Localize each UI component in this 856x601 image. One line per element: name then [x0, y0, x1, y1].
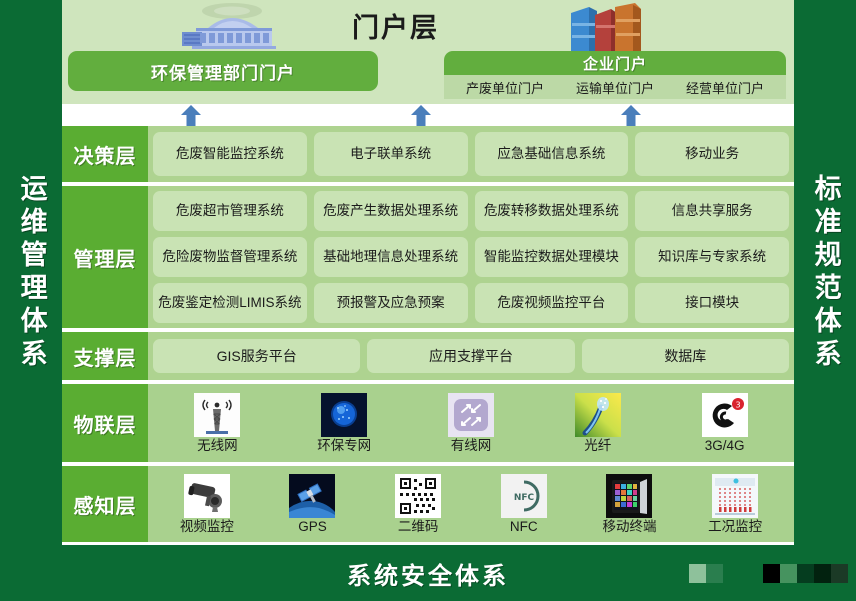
- radio-tower-icon: [194, 393, 240, 437]
- sense-item-label: 视频监控: [180, 520, 234, 535]
- sub-portal-item[interactable]: 运输单位门户: [576, 78, 654, 97]
- system-card[interactable]: 信息共享服务: [635, 191, 789, 231]
- iot-item-label: 有线网: [451, 439, 492, 454]
- satellite-icon: [289, 474, 335, 518]
- color-swatch: [814, 564, 831, 583]
- bottom-banner: 系统安全体系: [0, 545, 856, 601]
- nfc-icon: NFC: [501, 474, 547, 518]
- waste-barrels-icon: [567, 1, 649, 53]
- color-swatch: [831, 564, 848, 583]
- iot-item-wireless[interactable]: 无线网: [162, 393, 272, 454]
- layer-iot: 物联层: [62, 384, 794, 462]
- sense-item-mobile[interactable]: 移动终端: [581, 474, 677, 535]
- enterprise-portal-box[interactable]: 企业门户 产废单位门户 运输单位门户 经营单位门户: [444, 51, 786, 99]
- iot-item-fiber[interactable]: 光纤: [543, 393, 653, 454]
- system-card[interactable]: 危废智能监控系统: [153, 132, 307, 176]
- gov-portal-box[interactable]: 环保管理部门门户: [68, 51, 378, 91]
- architecture-diagram: 运维管理体系 标准规范体系: [0, 0, 856, 601]
- enterprise-sub-portals: 产废单位门户 运输单位门户 经营单位门户: [444, 75, 786, 99]
- layer-row: GIS服务平台 应用支撑平台 数据库: [153, 339, 789, 373]
- color-swatch: [780, 564, 797, 583]
- left-side-bar-label: 运维管理体系: [16, 174, 45, 372]
- sense-item-label: GPS: [298, 520, 327, 535]
- system-card[interactable]: 危废产生数据处理系统: [314, 191, 468, 231]
- system-card[interactable]: 接口模块: [635, 283, 789, 323]
- china-mobile-3g-icon: 3: [702, 393, 748, 437]
- bottom-banner-label: 系统安全体系: [347, 556, 509, 591]
- router-icon: [448, 393, 494, 437]
- layer-decision: 决策层 危废智能监控系统 电子联单系统 应急基础信息系统 移动业务: [62, 126, 794, 182]
- system-card[interactable]: 数据库: [582, 339, 789, 373]
- system-card[interactable]: 危废鉴定检测LIMIS系统: [153, 283, 307, 323]
- qr-code-icon: [395, 474, 441, 518]
- system-card[interactable]: 应急基础信息系统: [475, 132, 629, 176]
- system-card[interactable]: 基础地理信息处理系统: [314, 237, 468, 277]
- sense-item-nfc[interactable]: NFC NFC: [476, 474, 572, 535]
- sub-portal-item[interactable]: 经营单位门户: [686, 78, 764, 97]
- iot-item-label: 环保专网: [317, 439, 371, 454]
- svg-text:NFC: NFC: [514, 493, 535, 503]
- right-side-bar: 标准规范体系: [794, 0, 856, 545]
- system-card[interactable]: 移动业务: [635, 132, 789, 176]
- layer-support-body: GIS服务平台 应用支撑平台 数据库: [148, 332, 794, 380]
- upward-arrow-icon: [620, 105, 642, 126]
- system-card[interactable]: 危废超市管理系统: [153, 191, 307, 231]
- iot-item-3g4g[interactable]: 3 3G/4G: [670, 393, 780, 454]
- system-card[interactable]: 电子联单系统: [314, 132, 468, 176]
- system-card[interactable]: 知识库与专家系统: [635, 237, 789, 277]
- layer-management: 管理层 危废超市管理系统 危废产生数据处理系统 危废转移数据处理系统 信息共享服…: [62, 186, 794, 328]
- fiber-optic-icon: [575, 393, 621, 437]
- layer-row: 危废超市管理系统 危废产生数据处理系统 危废转移数据处理系统 信息共享服务: [153, 191, 789, 231]
- sub-portal-item[interactable]: 产废单位门户: [466, 78, 544, 97]
- color-swatch: [706, 564, 723, 583]
- sense-item-gps[interactable]: GPS: [264, 474, 360, 535]
- gov-portal-label: 环保管理部门门户: [151, 59, 295, 84]
- sense-item-label: 移动终端: [602, 520, 656, 535]
- sense-item-qrcode[interactable]: 二维码: [370, 474, 466, 535]
- layer-management-body: 危废超市管理系统 危废产生数据处理系统 危废转移数据处理系统 信息共享服务 危险…: [148, 186, 794, 328]
- layer-support: 支撑层 GIS服务平台 应用支撑平台 数据库: [62, 332, 794, 380]
- layer-management-label: 管理层: [62, 186, 148, 328]
- layer-iot-label: 物联层: [62, 384, 148, 462]
- sense-item-process[interactable]: 工况监控: [687, 474, 783, 535]
- layer-sensing: 感知层 视频监控: [62, 466, 794, 542]
- color-swatch: [797, 564, 814, 583]
- process-monitor-icon: [712, 474, 758, 518]
- right-side-bar-label: 标准规范体系: [810, 174, 839, 372]
- portal-layer-title: 门户层: [352, 6, 439, 45]
- iot-item-wired[interactable]: 有线网: [416, 393, 526, 454]
- cctv-camera-icon: [184, 474, 230, 518]
- network-globe-icon: [321, 393, 367, 437]
- color-swatches: [689, 564, 848, 583]
- left-side-bar: 运维管理体系: [0, 0, 62, 545]
- layer-decision-body: 危废智能监控系统 电子联单系统 应急基础信息系统 移动业务: [148, 126, 794, 182]
- system-card[interactable]: 危废转移数据处理系统: [475, 191, 629, 231]
- layer-row: 危废鉴定检测LIMIS系统 预报警及应急预案 危废视频监控平台 接口模块: [153, 283, 789, 323]
- enterprise-portal-header: 企业门户: [444, 51, 786, 75]
- color-swatch: [689, 564, 706, 583]
- iot-item-label: 无线网: [197, 439, 238, 454]
- color-swatch: [763, 564, 780, 583]
- sense-item-video[interactable]: 视频监控: [159, 474, 255, 535]
- layer-row: 危险废物监督管理系统 基础地理信息处理系统 智能监控数据处理模块 知识库与专家系…: [153, 237, 789, 277]
- system-card[interactable]: GIS服务平台: [153, 339, 360, 373]
- layer-sensing-label: 感知层: [62, 466, 148, 542]
- upward-arrow-icon: [410, 105, 432, 126]
- system-card[interactable]: 预报警及应急预案: [314, 283, 468, 323]
- iot-item-env-network[interactable]: 环保专网: [289, 393, 399, 454]
- layer-row: 危废智能监控系统 电子联单系统 应急基础信息系统 移动业务: [153, 132, 789, 176]
- layer-iot-body: 无线网 环保专网: [148, 384, 794, 462]
- system-card[interactable]: 智能监控数据处理模块: [475, 237, 629, 277]
- sense-item-label: NFC: [510, 520, 538, 535]
- sense-item-label: 二维码: [398, 520, 439, 535]
- swatch-gap: [723, 564, 763, 583]
- enterprise-portal-label: 企业门户: [583, 53, 647, 74]
- layer-decision-label: 决策层: [62, 126, 148, 182]
- layer-support-label: 支撑层: [62, 332, 148, 380]
- iot-item-label: 光纤: [584, 439, 611, 454]
- portal-layer: 门户层 环保管理部门门户 企业门户 产废单位门户 运输单位门户 经营单位门户: [62, 0, 794, 104]
- government-building-icon: [170, 2, 290, 52]
- center-stack: 门户层 环保管理部门门户 企业门户 产废单位门户 运输单位门户 经营单位门户: [62, 0, 794, 545]
- upward-arrow-icon: [180, 105, 202, 126]
- system-card[interactable]: 危险废物监督管理系统: [153, 237, 307, 277]
- system-card[interactable]: 应用支撑平台: [367, 339, 574, 373]
- sense-item-label: 工况监控: [708, 520, 762, 535]
- system-card[interactable]: 危废视频监控平台: [475, 283, 629, 323]
- layer-sensing-body: 视频监控: [148, 466, 794, 542]
- tablet-icon: [606, 474, 652, 518]
- svg-text:3: 3: [735, 400, 740, 409]
- iot-item-label: 3G/4G: [705, 439, 745, 454]
- arrow-band: [62, 104, 794, 126]
